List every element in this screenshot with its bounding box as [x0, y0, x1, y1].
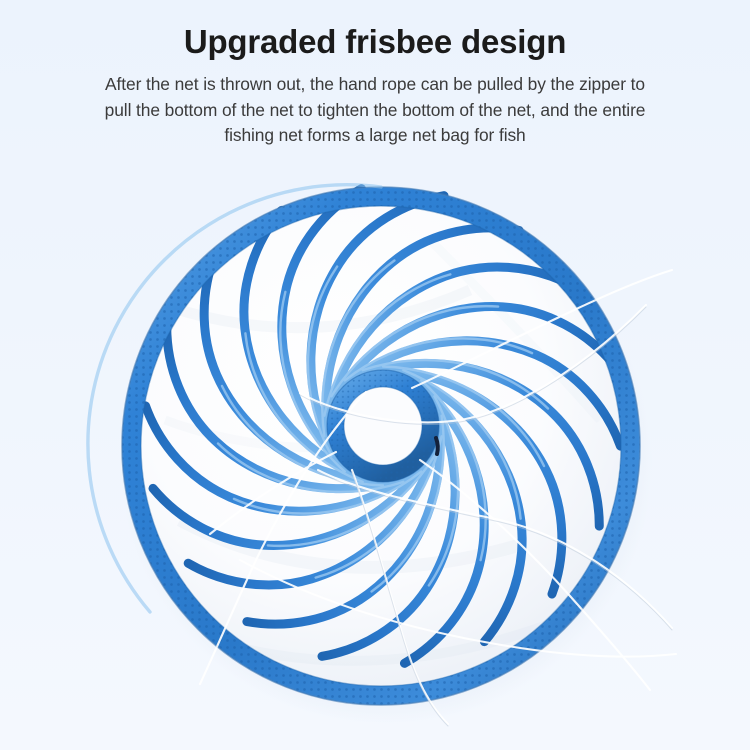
marketing-copy: Upgraded frisbee design After the net is… — [0, 0, 750, 149]
product-feature-banner: Upgraded frisbee design After the net is… — [0, 0, 750, 750]
subtitle-paragraph: After the net is thrown out, the hand ro… — [30, 72, 720, 149]
zipper-slot-icon — [436, 438, 438, 454]
page-title: Upgraded frisbee design — [0, 22, 750, 62]
subtitle-line-3: fishing net forms a large net bag for fi… — [30, 123, 720, 149]
hub-opening — [345, 388, 421, 464]
subtitle-line-2: pull the bottom of the net to tighten th… — [30, 98, 720, 124]
subtitle-line-1: After the net is thrown out, the hand ro… — [30, 72, 720, 98]
